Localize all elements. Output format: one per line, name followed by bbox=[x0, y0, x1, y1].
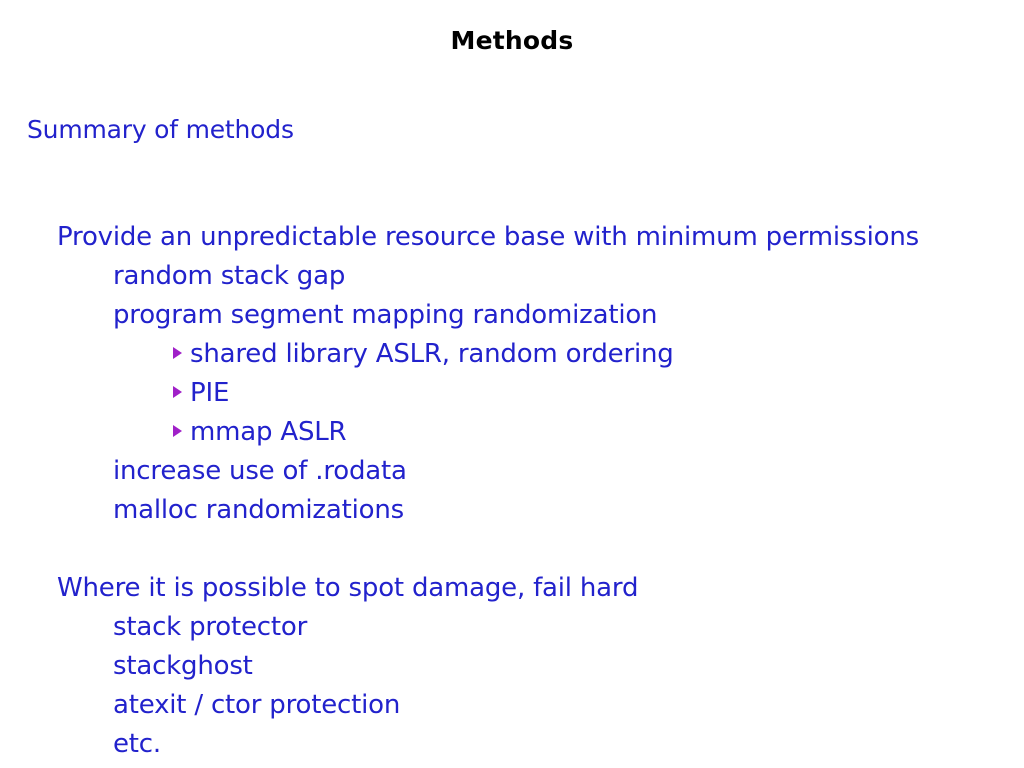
triangle-right-icon bbox=[173, 425, 182, 437]
outline-item-label: etc. bbox=[113, 729, 161, 759]
outline-spacer-3 bbox=[0, 530, 1024, 569]
slide-canvas: Methods Summary of methods Provide an un… bbox=[0, 0, 1024, 768]
outline-item-random-stack-gap: random stack gap bbox=[0, 257, 1024, 296]
outline-item-label: program segment mapping randomization bbox=[113, 300, 657, 330]
outline-item-label: shared library ASLR, random ordering bbox=[190, 339, 674, 369]
outline-item-label: mmap ASLR bbox=[190, 417, 346, 447]
outline-item-mmap-aslr: mmap ASLR bbox=[0, 413, 1024, 452]
outline-body: Summary of methods Provide an unpredicta… bbox=[0, 110, 1024, 764]
outline-item-stack-protector: stack protector bbox=[0, 608, 1024, 647]
outline-item-pie: PIE bbox=[0, 374, 1024, 413]
outline-heading-label: Summary of methods bbox=[27, 115, 294, 144]
outline-item-program-segment-mapping: program segment mapping randomization bbox=[0, 296, 1024, 335]
triangle-right-icon bbox=[173, 386, 182, 398]
outline-heading: Summary of methods bbox=[0, 110, 1024, 150]
outline-item-spot-damage-fail-hard: Where it is possible to spot damage, fai… bbox=[0, 569, 1024, 608]
page-title: Methods bbox=[0, 26, 1024, 56]
triangle-right-icon bbox=[173, 347, 182, 359]
outline-item-label: increase use of .rodata bbox=[113, 456, 407, 486]
outline-item-increase-rodata: increase use of .rodata bbox=[0, 452, 1024, 491]
outline-item-label: Provide an unpredictable resource base w… bbox=[57, 222, 919, 252]
outline-item-label: stack protector bbox=[113, 612, 307, 642]
outline-item-label: random stack gap bbox=[113, 261, 345, 291]
outline-item-label: stackghost bbox=[113, 651, 253, 681]
outline-item-atexit-ctor-protection: atexit / ctor protection bbox=[0, 686, 1024, 725]
outline-spacer-1 bbox=[0, 150, 1024, 184]
outline-item-etc: etc. bbox=[0, 725, 1024, 764]
outline-spacer-2 bbox=[0, 184, 1024, 218]
outline-item-label: Where it is possible to spot damage, fai… bbox=[57, 573, 638, 603]
outline-item-provide-resource-base: Provide an unpredictable resource base w… bbox=[0, 218, 1024, 257]
outline-item-label: PIE bbox=[190, 378, 229, 408]
outline-item-label: malloc randomizations bbox=[113, 495, 404, 525]
outline-item-shared-library-aslr: shared library ASLR, random ordering bbox=[0, 335, 1024, 374]
outline-item-label: atexit / ctor protection bbox=[113, 690, 400, 720]
outline-item-stackghost: stackghost bbox=[0, 647, 1024, 686]
outline-item-malloc-randomizations: malloc randomizations bbox=[0, 491, 1024, 530]
